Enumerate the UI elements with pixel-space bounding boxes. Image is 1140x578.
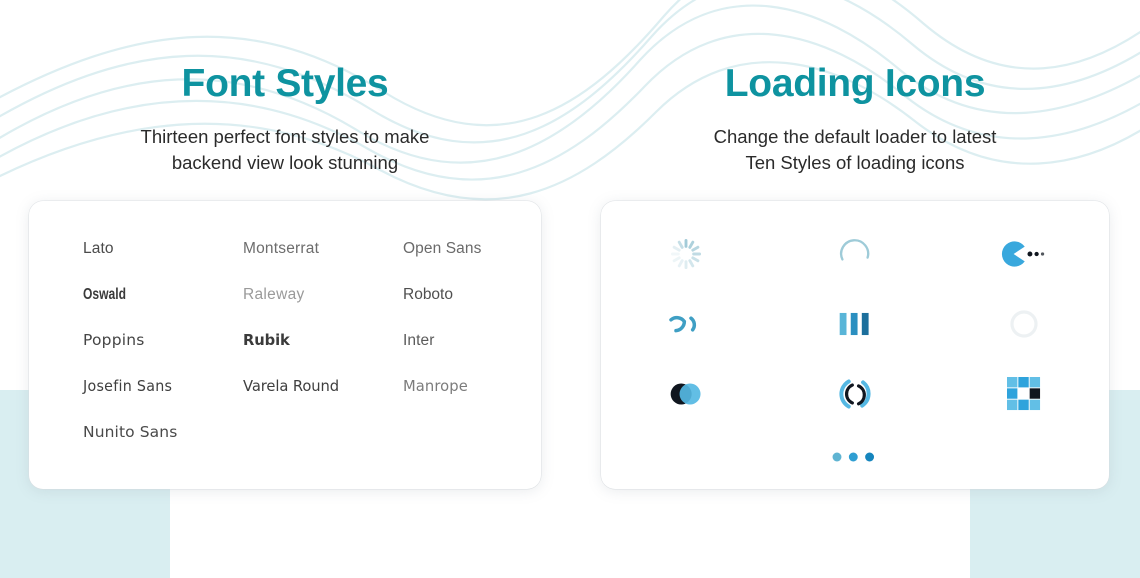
font-styles-card: Lato Montserrat Open Sans Oswald Raleway… [29, 201, 541, 489]
page-root: Font Styles Thirteen perfect font styles… [0, 0, 1140, 578]
spinner-brackets-icon [837, 377, 873, 411]
subtitle-line-1: Change the default loader to latest [714, 126, 997, 147]
loading-icons-card [601, 201, 1109, 489]
spinner-bars-icon [838, 309, 872, 339]
font-name: Lato [83, 240, 114, 257]
font-list-grid: Lato Montserrat Open Sans Oswald Raleway… [29, 241, 541, 471]
font-name: Open Sans [403, 240, 481, 257]
page-title-font-styles: Font Styles [182, 63, 389, 106]
subtitle-line-2: Ten Styles of loading icons [745, 152, 964, 173]
font-name: Oswald [83, 287, 126, 303]
loader-cell[interactable] [992, 292, 1056, 356]
panel-font-styles: Font Styles Thirteen perfect font styles… [0, 0, 570, 578]
font-list-item[interactable]: Josefin Sans [83, 379, 243, 395]
loader-bottom-row [601, 429, 1109, 485]
loader-icon-grid [601, 201, 1109, 429]
font-name: Josefin Sans [83, 379, 172, 395]
panel-subtitle-font-styles: Thirteen perfect font styles to make bac… [141, 124, 430, 177]
font-list-item[interactable]: Open Sans [403, 241, 553, 257]
loader-cell[interactable] [992, 222, 1056, 286]
spinner-dots-icon [831, 450, 879, 464]
font-name: Montserrat [243, 240, 319, 257]
font-name: Roboto [403, 286, 453, 303]
loader-cell[interactable] [654, 222, 718, 286]
loader-cell[interactable] [992, 362, 1056, 426]
font-name: Manrope [403, 379, 468, 395]
loader-cell[interactable] [823, 425, 887, 489]
font-list-item[interactable]: Varela Round [243, 379, 403, 395]
font-list-item[interactable]: Roboto [403, 287, 553, 303]
spinner-spokes-icon [669, 237, 703, 271]
font-name: Varela Round [243, 379, 339, 395]
font-list-item[interactable]: Poppins [83, 333, 243, 349]
spinner-grid-icon [1007, 377, 1041, 411]
page-title-loading-icons: Loading Icons [725, 63, 985, 106]
subtitle-line-1: Thirteen perfect font styles to make [141, 126, 430, 147]
font-list-item[interactable]: Raleway [243, 287, 403, 303]
loader-cell[interactable] [654, 362, 718, 426]
loader-cell[interactable] [823, 362, 887, 426]
panel-loading-icons: Loading Icons Change the default loader … [570, 0, 1140, 578]
loader-cell[interactable] [823, 292, 887, 356]
spinner-two-circles-icon [665, 380, 707, 408]
font-name: Poppins [83, 331, 145, 349]
loader-cell[interactable] [654, 292, 718, 356]
font-list-item[interactable]: Montserrat [243, 241, 403, 257]
font-name: Rubik [243, 333, 290, 349]
spinner-arc-icon [837, 236, 873, 272]
font-name: Inter [403, 332, 435, 349]
subtitle-line-2: backend view look stunning [172, 152, 398, 173]
font-list-item[interactable]: Lato [83, 241, 243, 257]
font-list-item[interactable]: Nunito Sans [83, 425, 243, 441]
font-list-item[interactable]: Inter [403, 333, 553, 349]
font-list-item[interactable]: Manrope [403, 379, 553, 395]
font-name: Nunito Sans [83, 423, 177, 441]
panel-subtitle-loading-icons: Change the default loader to latest Ten … [714, 124, 997, 177]
font-name: Raleway [243, 286, 305, 303]
loader-cell[interactable] [823, 222, 887, 286]
spinner-ring-icon [1008, 308, 1040, 340]
spinner-split-ring-icon [666, 308, 706, 340]
font-list-item[interactable]: Rubik [243, 333, 403, 349]
font-list-item[interactable]: Oswald [83, 287, 243, 303]
spinner-pacman-icon [1001, 239, 1047, 269]
